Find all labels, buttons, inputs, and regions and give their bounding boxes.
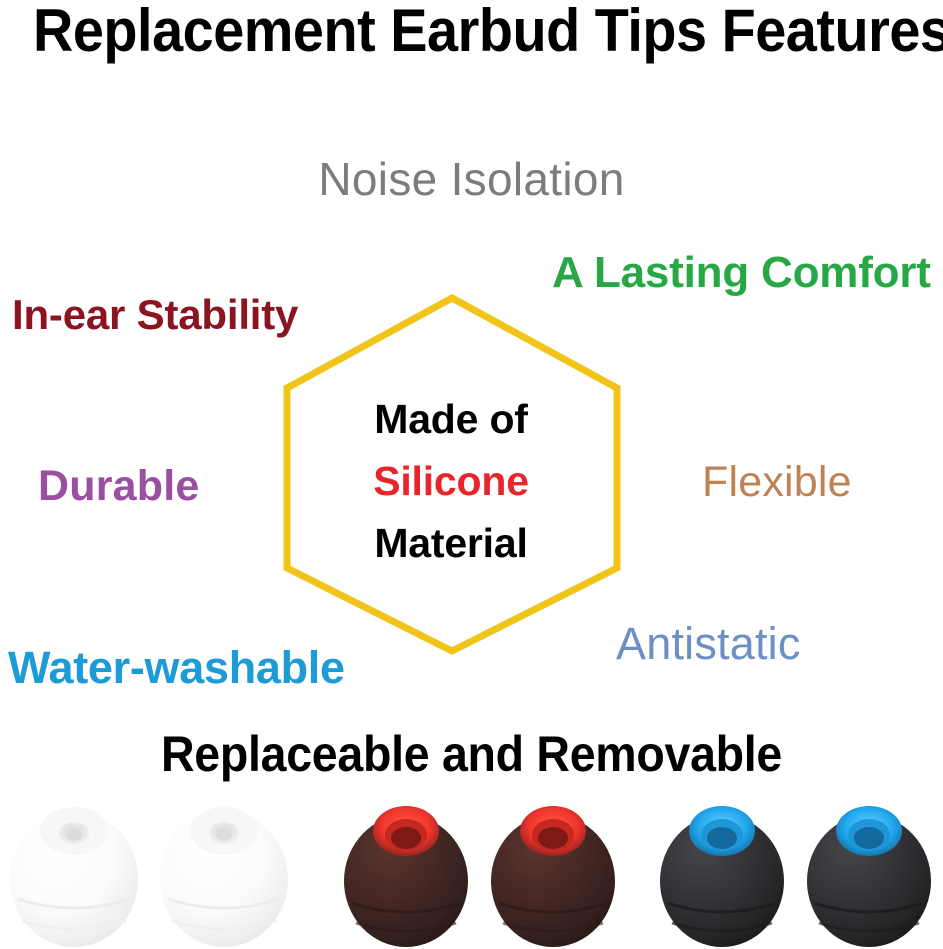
earbud-tips-row <box>0 795 943 949</box>
feature-label-antistatic: Antistatic <box>616 620 801 669</box>
earbud-tip-red-left <box>340 795 472 947</box>
feature-label-durable: Durable <box>38 463 200 509</box>
center-line-silicone: Silicone <box>284 450 618 512</box>
hexagon-center-text: Made of Silicone Material <box>284 388 618 574</box>
earbud-tip-blue-left <box>656 795 788 947</box>
earbud-tip-white-left <box>8 795 140 947</box>
feature-label-flexible: Flexible <box>702 459 852 505</box>
earbud-tip-blue-right <box>803 795 935 947</box>
feature-label-noise-isolation: Noise Isolation <box>0 155 943 205</box>
bottom-heading: Replaceable and Removable <box>33 725 910 783</box>
earbud-tip-red-right <box>487 795 619 947</box>
page-title: Replacement Earbud Tips Features <box>33 0 910 64</box>
feature-label-in-ear-stability: In-ear Stability <box>12 292 298 337</box>
earbud-tip-white-right <box>158 795 290 947</box>
infographic-canvas: Replacement Earbud Tips Features Noise I… <box>0 0 943 949</box>
center-line-material: Material <box>284 512 618 574</box>
center-line-made-of: Made of <box>284 388 618 450</box>
